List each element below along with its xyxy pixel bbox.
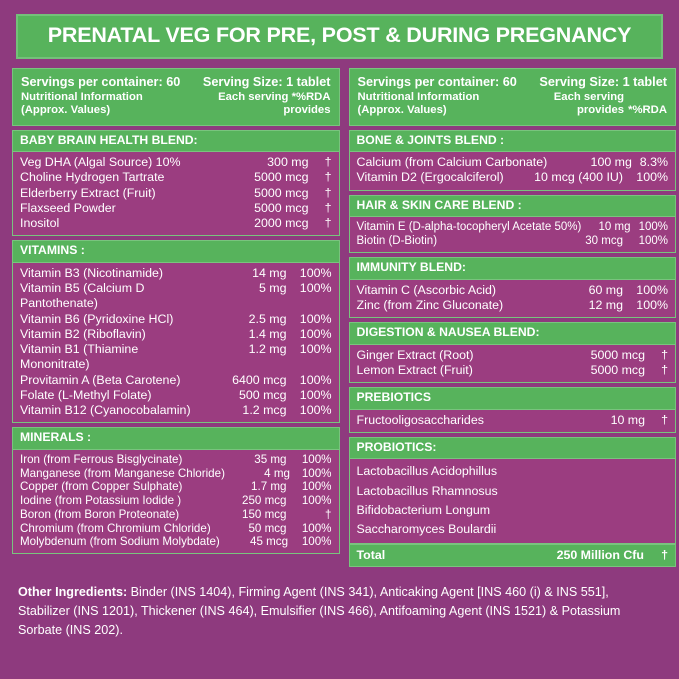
rda-note-left: *%RDA — [292, 91, 331, 103]
section-rows: Lactobacillus Acidophillus Lactobacillus… — [349, 459, 677, 544]
table-row: Vitamin B5 (Calcium D5 mg100% — [20, 281, 332, 296]
section-heading: BABY BRAIN HEALTH BLEND: — [12, 130, 340, 152]
ingredient-amount: 1.2 mcg — [212, 403, 287, 418]
ingredient-rda: 100% — [287, 403, 332, 418]
ingredient-name: Vitamin B2 (Riboflavin) — [20, 327, 212, 342]
ingredient-name: Folate (L-Methyl Folate) — [20, 388, 212, 403]
section-rows: Vitamin C (Ascorbic Acid)60 mg100% Zinc … — [349, 280, 677, 319]
each-serving-provides-right: Each serving provides *%RDA — [554, 91, 667, 118]
ingredient-rda: 8.3% — [632, 155, 668, 170]
ingredient-amount: 10 mg — [568, 413, 645, 428]
ingredient-name: Manganese (from Manganese Chloride) — [20, 467, 225, 481]
section-bone-joints-blend: BONE & JOINTS BLEND : Calcium (from Calc… — [349, 130, 677, 191]
table-row: Lemon Extract (Fruit)5000 mcg† — [357, 363, 669, 378]
ingredient-amount: 50 mcg — [216, 522, 287, 536]
ingredient-name: Copper (from Copper Sulphate) — [20, 480, 216, 494]
ingredient-amount: 10 mg — [581, 220, 630, 234]
ingredient-amount: 1.7 mg — [216, 480, 287, 494]
table-row: Calcium (from Calcium Carbonate)100 mg8.… — [357, 155, 669, 170]
ingredient-name: Boron (from Boron Proteonate) — [20, 508, 216, 522]
section-heading: MINERALS : — [12, 427, 340, 449]
ingredient-amount: 500 mcg — [212, 388, 287, 403]
each-serving-line2-right: provides — [577, 104, 624, 116]
ingredient-name: Vitamin B5 (Calcium D — [20, 281, 212, 296]
ingredient-rda: 100% — [623, 170, 668, 185]
ingredient-name: Molybdenum (from Sodium Molybdate) — [20, 535, 220, 549]
ingredient-name: Flaxseed Powder — [20, 201, 226, 216]
probiotics-total-row: Total 250 Million Cfu † — [349, 544, 677, 567]
ingredient-name: Chromium (from Chromium Chloride) — [20, 522, 216, 536]
ingredient-rda: 100% — [287, 388, 332, 403]
ingredient-name: Vitamin D2 (Ergocalciferol) — [357, 170, 515, 185]
ingredient-rda: 100% — [287, 312, 332, 327]
ingredient-amount: 2.5 mg — [212, 312, 287, 327]
section-immunity-blend: IMMUNITY BLEND: Vitamin C (Ascorbic Acid… — [349, 257, 677, 318]
each-serving-provides-left: Each serving *%RDA provides — [218, 91, 330, 118]
serving-header-right: Servings per container: 60 Serving Size:… — [349, 68, 677, 126]
ingredient-amount: 1.2 mg — [212, 342, 287, 357]
ingredient-name: Calcium (from Calcium Carbonate) — [357, 155, 548, 170]
table-row: Vitamin B6 (Pyridoxine HCl)2.5 mg100% — [20, 312, 332, 327]
ingredient-amount: 4 mg — [225, 467, 290, 481]
section-rows: Veg DHA (Algal Source) 10%300 mg† Cholin… — [12, 152, 340, 236]
section-digestion-nausea-blend: DIGESTION & NAUSEA BLEND: Ginger Extract… — [349, 322, 677, 383]
ingredient-rda: 100% — [290, 467, 332, 481]
serving-size-left: Serving Size: 1 tablet — [203, 75, 331, 90]
ingredient-amount: 100 mg — [547, 155, 632, 170]
section-heading: IMMUNITY BLEND: — [349, 257, 677, 279]
ingredient-name: Vitamin E (D-alpha-tocopheryl Acetate 50… — [357, 220, 582, 234]
each-serving-line2-left: provides — [283, 104, 330, 116]
ingredient-name: Mononitrate) — [20, 357, 212, 372]
supplement-facts-label: PRENATAL VEG FOR PRE, POST & DURING PREG… — [0, 0, 679, 679]
total-label: Total — [357, 548, 541, 562]
section-vitamins: VITAMINS : Vitamin B3 (Nicotinamide)14 m… — [12, 240, 340, 423]
ingredient-name: Biotin (D-Biotin) — [357, 234, 564, 248]
ingredient-amount: 10 mcg (400 IU) — [514, 170, 623, 185]
table-row: Elderberry Extract (Fruit)5000 mcg† — [20, 186, 332, 201]
ingredient-amount: 5000 mcg — [226, 201, 309, 216]
section-heading: HAIR & SKIN CARE BLEND : — [349, 195, 677, 217]
table-row: Ginger Extract (Root)5000 mcg† — [357, 348, 669, 363]
ingredient-name: Lactobacillus Acidophillus — [357, 462, 669, 481]
table-row: Veg DHA (Algal Source) 10%300 mg† — [20, 155, 332, 170]
table-row: Inositol2000 mcg† — [20, 216, 332, 231]
table-row: Lactobacillus Acidophillus — [357, 462, 669, 481]
ingredient-amount: 300 mg — [226, 155, 309, 170]
table-row: Vitamin D2 (Ergocalciferol)10 mcg (400 I… — [357, 170, 669, 185]
ingredient-name: Iron (from Ferrous Bisglycinate) — [20, 453, 216, 467]
ingredient-amount: 150 mcg — [216, 508, 287, 522]
nutritional-info-left: Nutritional Information (Approx. Values) — [21, 91, 143, 118]
ingredient-amount: 60 mg — [558, 283, 623, 298]
ingredient-rda: † — [645, 363, 668, 378]
section-hair-skin-care-blend: HAIR & SKIN CARE BLEND : Vitamin E (D-al… — [349, 195, 677, 254]
ingredient-amount: 5000 mcg — [226, 186, 309, 201]
table-row: Lactobacillus Rhamnosus — [357, 482, 669, 501]
total-amount: 250 Million Cfu — [540, 548, 644, 562]
ingredient-rda: 100% — [287, 480, 332, 494]
ingredient-amount: 5000 mcg — [226, 170, 309, 185]
nutritional-info-line2-right: (Approx. Values) — [358, 104, 447, 116]
nutritional-info-right: Nutritional Information (Approx. Values) — [358, 91, 480, 118]
right-column: Servings per container: 60 Serving Size:… — [349, 68, 677, 572]
section-rows: Ginger Extract (Root)5000 mcg† Lemon Ext… — [349, 345, 677, 384]
table-row: Vitamin C (Ascorbic Acid)60 mg100% — [357, 283, 669, 298]
each-serving-line1-left: Each serving — [218, 91, 288, 103]
section-heading: VITAMINS : — [12, 240, 340, 262]
section-rows: Calcium (from Calcium Carbonate)100 mg8.… — [349, 152, 677, 191]
nutritional-info-line1-right: Nutritional Information — [358, 91, 480, 103]
table-row: Boron (from Boron Proteonate)150 mcg† — [20, 508, 332, 522]
ingredient-rda: † — [309, 170, 332, 185]
ingredient-rda: † — [287, 508, 332, 522]
table-row: Chromium (from Chromium Chloride)50 mcg1… — [20, 522, 332, 536]
ingredient-amount: 5000 mcg — [568, 363, 645, 378]
table-row: Iron (from Ferrous Bisglycinate)35 mg100… — [20, 453, 332, 467]
serving-header-left: Servings per container: 60 Serving Size:… — [12, 68, 340, 126]
ingredient-name: Vitamin B6 (Pyridoxine HCl) — [20, 312, 212, 327]
rda-note-right: *%RDA — [628, 104, 667, 117]
ingredient-name: Lemon Extract (Fruit) — [357, 363, 569, 378]
ingredient-amount: 35 mg — [216, 453, 287, 467]
section-rows: Vitamin B3 (Nicotinamide)14 mg100% Vitam… — [12, 263, 340, 424]
table-row: Bifidobacterium Longum — [357, 501, 669, 520]
ingredient-amount: 45 mcg — [220, 535, 288, 549]
ingredient-rda: 100% — [287, 266, 332, 281]
ingredient-name: Pantothenate) — [20, 296, 212, 311]
table-row: Copper (from Copper Sulphate)1.7 mg100% — [20, 480, 332, 494]
table-row: Mononitrate) — [20, 357, 332, 372]
ingredient-rda: 100% — [623, 283, 668, 298]
servings-per-container-right: Servings per container: 60 — [358, 75, 517, 90]
ingredient-rda: 100% — [287, 373, 332, 388]
table-row: Provitamin A (Beta Carotene)6400 mcg100% — [20, 373, 332, 388]
section-heading: PREBIOTICS — [349, 387, 677, 409]
section-rows: Vitamin E (D-alpha-tocopheryl Acetate 50… — [349, 217, 677, 253]
ingredient-amount: 250 mcg — [216, 494, 287, 508]
ingredient-rda: 100% — [288, 535, 331, 549]
ingredient-name: Choline Hydrogen Tartrate — [20, 170, 226, 185]
ingredient-amount: 14 mg — [212, 266, 287, 281]
ingredient-name: Vitamin B3 (Nicotinamide) — [20, 266, 212, 281]
section-heading: BONE & JOINTS BLEND : — [349, 130, 677, 152]
ingredient-rda: † — [309, 186, 332, 201]
ingredient-name: Fructooligosaccharides — [357, 413, 569, 428]
ingredient-amount: 12 mg — [558, 298, 623, 313]
ingredient-rda: 100% — [287, 327, 332, 342]
ingredient-rda: † — [309, 155, 332, 170]
ingredient-name: Saccharomyces Boulardii — [357, 520, 669, 539]
ingredient-rda: 100% — [287, 453, 332, 467]
ingredient-name: Iodine (from Potassium Iodide ) — [20, 494, 216, 508]
ingredient-rda: † — [645, 413, 668, 428]
table-row: Fructooligosaccharides10 mg† — [357, 413, 669, 428]
left-column: Servings per container: 60 Serving Size:… — [12, 68, 340, 559]
table-row: Choline Hydrogen Tartrate5000 mcg† — [20, 170, 332, 185]
table-row: Manganese (from Manganese Chloride)4 mg1… — [20, 467, 332, 481]
servings-per-container-left: Servings per container: 60 — [21, 75, 180, 90]
ingredient-rda: † — [309, 216, 332, 231]
ingredient-name: Vitamin C (Ascorbic Acid) — [357, 283, 559, 298]
ingredient-name: Zinc (from Zinc Gluconate) — [357, 298, 559, 313]
section-rows: Iron (from Ferrous Bisglycinate)35 mg100… — [12, 450, 340, 554]
section-minerals: MINERALS : Iron (from Ferrous Bisglycina… — [12, 427, 340, 554]
table-row: Iodine (from Potassium Iodide )250 mcg10… — [20, 494, 332, 508]
table-row: Molybdenum (from Sodium Molybdate)45 mcg… — [20, 535, 332, 549]
section-baby-brain-health-blend: BABY BRAIN HEALTH BLEND: Veg DHA (Algal … — [12, 130, 340, 237]
ingredient-name: Inositol — [20, 216, 226, 231]
ingredient-name: Vitamin B1 (Thiamine — [20, 342, 212, 357]
ingredient-name: Elderberry Extract (Fruit) — [20, 186, 226, 201]
ingredient-name: Ginger Extract (Root) — [357, 348, 569, 363]
ingredient-name: Veg DHA (Algal Source) 10% — [20, 155, 226, 170]
ingredient-name: Provitamin A (Beta Carotene) — [20, 373, 212, 388]
ingredient-rda: † — [645, 348, 668, 363]
ingredient-amount: 1.4 mg — [212, 327, 287, 342]
ingredient-name: Bifidobacterium Longum — [357, 501, 669, 520]
ingredient-rda: 100% — [630, 220, 668, 234]
ingredient-rda: 100% — [287, 342, 332, 357]
table-row: Vitamin B12 (Cyanocobalamin)1.2 mcg100% — [20, 403, 332, 418]
table-row: Vitamin B2 (Riboflavin)1.4 mg100% — [20, 327, 332, 342]
ingredient-amount: 5 mg — [212, 281, 287, 296]
table-row: Zinc (from Zinc Gluconate)12 mg100% — [357, 298, 669, 313]
ingredient-amount: 30 mcg — [563, 234, 623, 248]
serving-size-right: Serving Size: 1 tablet — [539, 75, 667, 90]
nutritional-info-line2-left: (Approx. Values) — [21, 104, 110, 116]
ingredient-rda: 100% — [287, 281, 332, 296]
section-heading: DIGESTION & NAUSEA BLEND: — [349, 322, 677, 344]
ingredient-amount: 5000 mcg — [568, 348, 645, 363]
table-row: Pantothenate) — [20, 296, 332, 311]
facts-columns: Servings per container: 60 Serving Size:… — [12, 68, 667, 572]
ingredient-rda: 100% — [287, 494, 332, 508]
table-row: Vitamin B1 (Thiamine1.2 mg100% — [20, 342, 332, 357]
table-row: Vitamin E (D-alpha-tocopheryl Acetate 50… — [357, 220, 669, 234]
page-title: PRENATAL VEG FOR PRE, POST & DURING PREG… — [16, 14, 663, 59]
other-ingredients-label: Other Ingredients: — [18, 585, 127, 599]
ingredient-rda: 100% — [623, 234, 668, 248]
table-row: Folate (L-Methyl Folate)500 mcg100% — [20, 388, 332, 403]
section-probiotics: PROBIOTICS: Lactobacillus Acidophillus L… — [349, 437, 677, 567]
section-prebiotics: PREBIOTICS Fructooligosaccharides10 mg† — [349, 387, 677, 433]
section-heading: PROBIOTICS: — [349, 437, 677, 459]
nutritional-info-line1-left: Nutritional Information — [21, 91, 143, 103]
ingredient-rda: 100% — [623, 298, 668, 313]
table-row: Vitamin B3 (Nicotinamide)14 mg100% — [20, 266, 332, 281]
table-row: Saccharomyces Boulardii — [357, 520, 669, 539]
each-serving-line1-right: Each serving — [554, 91, 624, 103]
ingredient-amount: 2000 mcg — [226, 216, 309, 231]
ingredient-name: Lactobacillus Rhamnosus — [357, 482, 669, 501]
other-ingredients: Other Ingredients: Binder (INS 1404), Fi… — [12, 571, 667, 640]
ingredient-name: Vitamin B12 (Cyanocobalamin) — [20, 403, 212, 418]
total-rda: † — [644, 548, 668, 562]
table-row: Flaxseed Powder5000 mcg† — [20, 201, 332, 216]
section-rows: Fructooligosaccharides10 mg† — [349, 410, 677, 433]
ingredient-rda: 100% — [287, 522, 332, 536]
table-row: Biotin (D-Biotin)30 mcg100% — [357, 234, 669, 248]
ingredient-rda: † — [309, 201, 332, 216]
ingredient-amount: 6400 mcg — [212, 373, 287, 388]
